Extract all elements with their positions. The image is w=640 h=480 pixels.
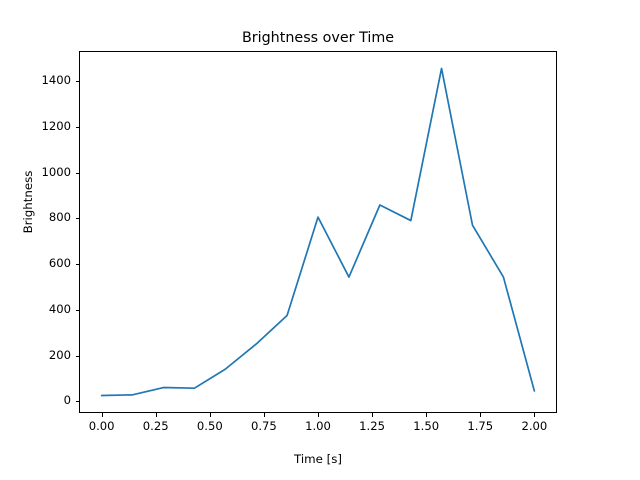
- x-tick-label: 0.50: [197, 419, 223, 433]
- x-tick-mark: [156, 413, 157, 417]
- y-tick-mark: [76, 173, 80, 174]
- data-line-svg: [80, 52, 556, 412]
- x-tick-label: 0.00: [89, 419, 115, 433]
- x-tick-mark: [102, 413, 103, 417]
- x-tick-label: 2.00: [521, 419, 547, 433]
- y-axis-label: Brightness: [21, 152, 35, 252]
- y-tick-mark: [76, 401, 80, 402]
- brightness-line: [102, 68, 535, 395]
- x-tick-mark: [264, 413, 265, 417]
- x-tick-mark: [426, 413, 427, 417]
- x-tick-mark: [372, 413, 373, 417]
- x-axis-label: Time [s]: [79, 452, 557, 466]
- y-tick-mark: [76, 310, 80, 311]
- matplotlib-figure: Brightness over Time 0.000.250.500.751.0…: [0, 0, 640, 480]
- y-tick-mark: [76, 218, 80, 219]
- x-tick-label: 0.25: [143, 419, 169, 433]
- x-tick-label: 1.50: [413, 419, 439, 433]
- x-tick-label: 1.25: [359, 419, 385, 433]
- x-tick-mark: [534, 413, 535, 417]
- x-tick-mark: [210, 413, 211, 417]
- x-tick-mark: [318, 413, 319, 417]
- y-tick-mark: [76, 356, 80, 357]
- x-tick-label: 1.00: [305, 419, 331, 433]
- x-tick-label: 0.75: [251, 419, 277, 433]
- y-tick-mark: [76, 127, 80, 128]
- y-tick-mark: [76, 81, 80, 82]
- x-tick-mark: [480, 413, 481, 417]
- chart-title: Brightness over Time: [78, 30, 558, 46]
- y-tick-mark: [76, 264, 80, 265]
- plot-area: [79, 51, 557, 413]
- x-tick-label: 1.75: [467, 419, 493, 433]
